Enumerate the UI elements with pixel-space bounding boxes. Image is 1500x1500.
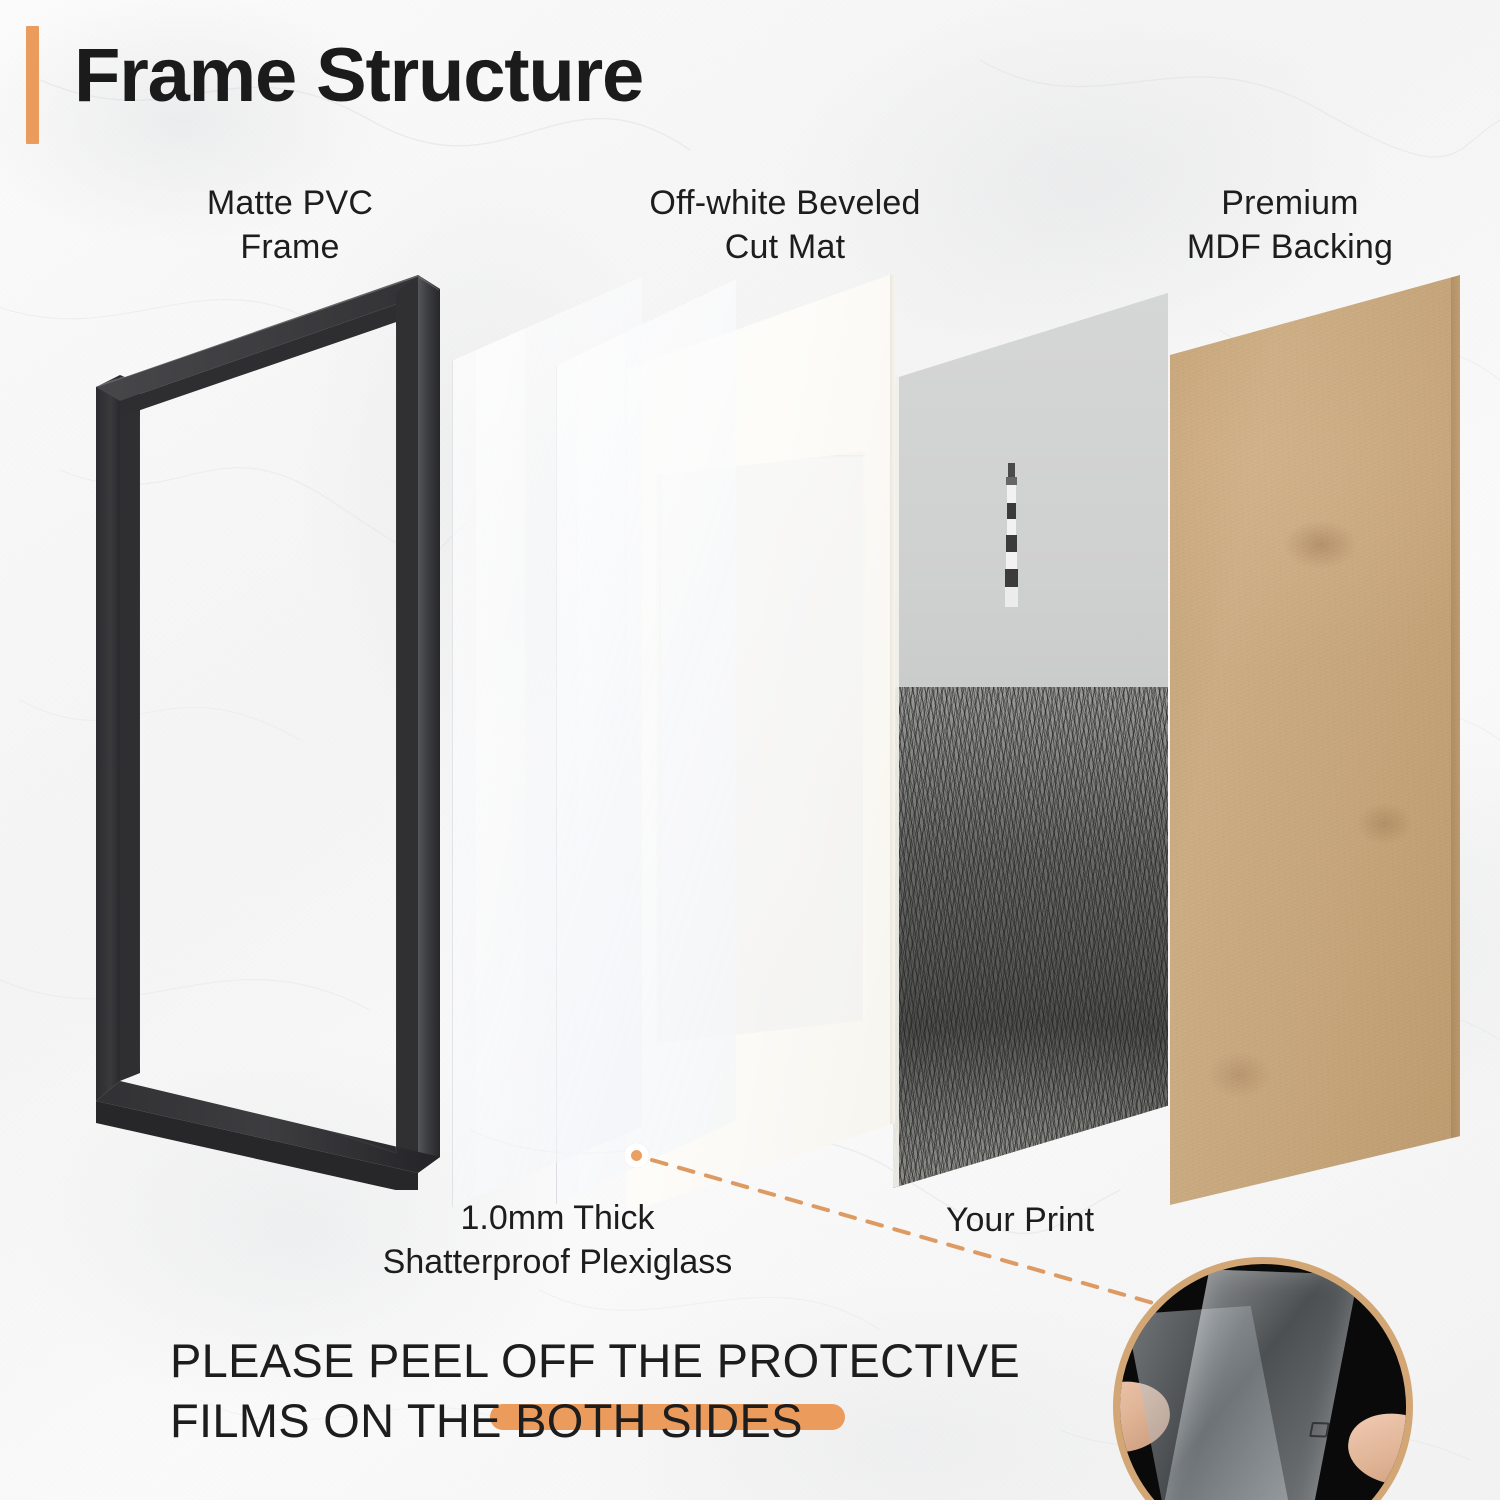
layer-mdf-backing: [1170, 275, 1460, 1205]
layer-pvc-frame: [88, 255, 448, 1190]
peel-line-2-prefix: FILMS ON THE: [170, 1394, 515, 1447]
page-title: Frame Structure: [74, 34, 643, 118]
caption-frame-line1: Matte PVC: [95, 182, 485, 226]
layer-plexiglass-front: [452, 277, 642, 1207]
lighthouse-icon: [1003, 463, 1020, 663]
film-logo-icon: [1309, 1422, 1330, 1438]
callout-connector: [600, 1130, 1220, 1330]
hand-right: [1343, 1407, 1413, 1491]
peel-line-1: PLEASE PEEL OFF THE PROTECTIVE: [170, 1331, 1070, 1391]
caption-mdf-line1: Premium: [1090, 182, 1490, 226]
exploded-frame-stack: [0, 255, 1500, 1215]
caption-mat-line1: Off-white Beveled: [540, 182, 1030, 226]
peel-line-2-highlight: BOTH SIDES: [515, 1394, 803, 1447]
protective-film-front: [1160, 1269, 1359, 1500]
peel-instruction: PLEASE PEEL OFF THE PROTECTIVE FILMS ON …: [170, 1331, 1070, 1451]
mdf-fiber-texture: [1170, 275, 1460, 1205]
layer-print-photo: [893, 293, 1168, 1188]
header: Frame Structure: [0, 0, 1500, 165]
mdf-right-edge: [1451, 275, 1460, 1205]
plexiglass-sheen-front: [476, 277, 525, 1207]
dune-grass: [893, 687, 1168, 1188]
title-accent-bar: [26, 26, 39, 144]
pvc-frame-shape: [88, 255, 448, 1190]
peel-line-2: FILMS ON THE BOTH SIDES: [170, 1391, 1070, 1451]
connector-dashed-line: [600, 1130, 1220, 1330]
mat-right-edge: [890, 273, 895, 1213]
connector-dot-marker: [624, 1143, 649, 1168]
